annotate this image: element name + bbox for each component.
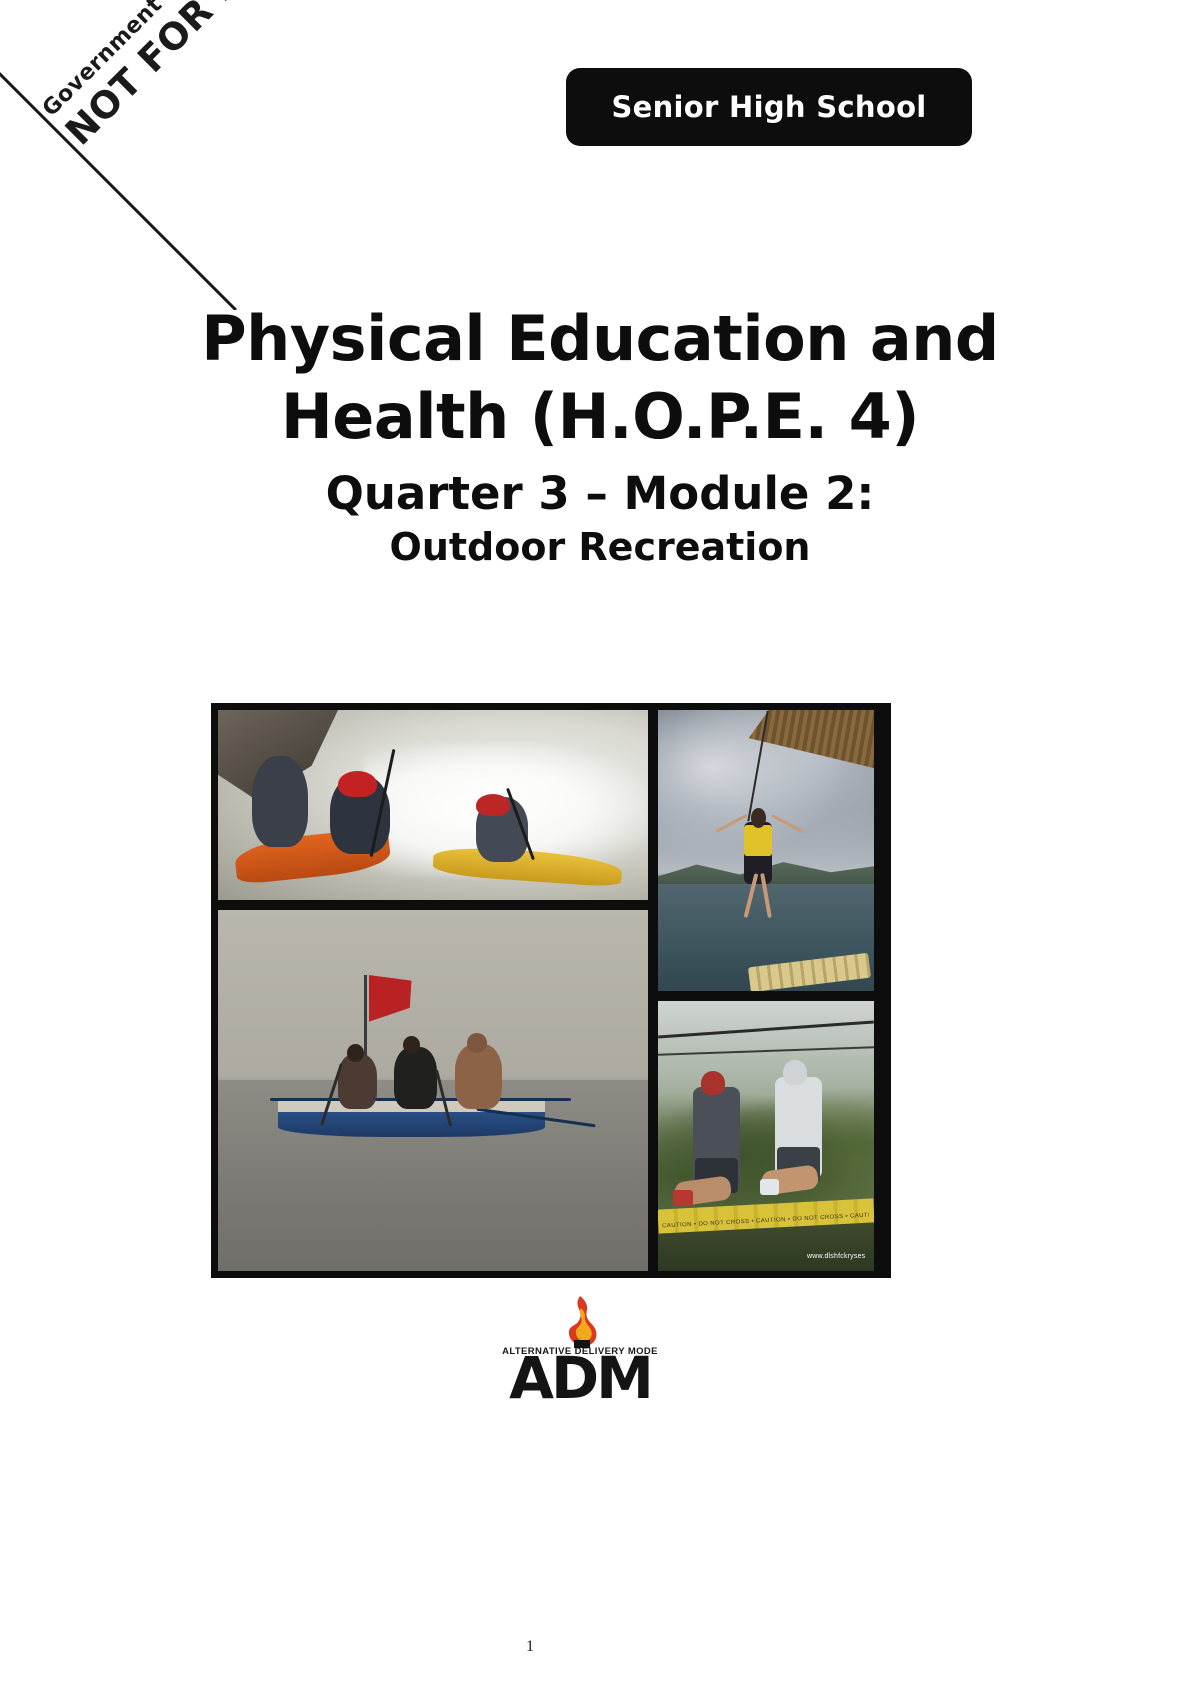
rafting-person-1	[252, 756, 308, 847]
title-block: Physical Education and Health (H.O.P.E. …	[100, 300, 1100, 571]
quarter-module-subtitle: Quarter 3 – Module 2:	[100, 467, 1100, 521]
topic-subtitle: Outdoor Recreation	[100, 525, 1100, 571]
whitewater-rafting-photo	[218, 710, 648, 900]
boat-paddler-3-head	[467, 1033, 486, 1053]
zipline-rider-2-helmet	[783, 1060, 807, 1084]
rafting-red-helmet-1	[338, 771, 377, 798]
adm-acronym: ADM	[470, 1351, 690, 1406]
banner-text-group: Government Property NOT FOR SALE	[38, 0, 306, 153]
jumper-life-vest	[744, 825, 772, 856]
adm-flame-icon	[470, 1296, 690, 1348]
boat-paddler-2	[394, 1047, 437, 1108]
page-title: Physical Education and Health (H.O.P.E. …	[100, 300, 1100, 455]
torch-base-shape	[574, 1340, 590, 1348]
page-number: 1	[0, 1638, 1060, 1656]
zipline-riders-photo: CAUTION • DO NOT CROSS • CAUTION • DO NO…	[658, 1001, 874, 1271]
boat-paddler-1-head	[347, 1044, 364, 1062]
senior-high-school-label: Senior High School	[611, 90, 926, 124]
jumper-head	[751, 808, 766, 828]
banner-line-bottom	[0, 162, 87, 310]
government-property-banner: Government Property NOT FOR SALE	[0, 0, 310, 310]
banner-line-top	[0, 12, 237, 310]
zipline-rider-1-helmet	[701, 1071, 725, 1095]
photo-watermark: www.dlshfckryses	[807, 1253, 865, 1260]
rafting-red-helmet-2	[476, 794, 510, 817]
cover-photo-collage: CAUTION • DO NOT CROSS • CAUTION • DO NO…	[211, 703, 891, 1278]
zipline-over-lake-photo	[658, 710, 874, 991]
banner-line1-text: Government Property	[38, 0, 274, 122]
zipline-rider-2-shoes	[760, 1179, 779, 1195]
boat-paddler-3	[455, 1044, 502, 1109]
zipline-rider-1-shoes	[673, 1190, 692, 1206]
boat-hull	[278, 1112, 545, 1137]
adm-logo: ALTERNATIVE DELIVERY MODE ADM	[470, 1296, 690, 1436]
boat-paddler-1	[338, 1054, 377, 1108]
senior-high-school-tag: Senior High School	[566, 68, 972, 146]
outrigger-boat-photo	[218, 910, 648, 1271]
banner-line2-text: NOT FOR SALE	[57, 0, 306, 153]
module-cover-page: Government Property NOT FOR SALE Senior …	[0, 0, 1200, 1696]
